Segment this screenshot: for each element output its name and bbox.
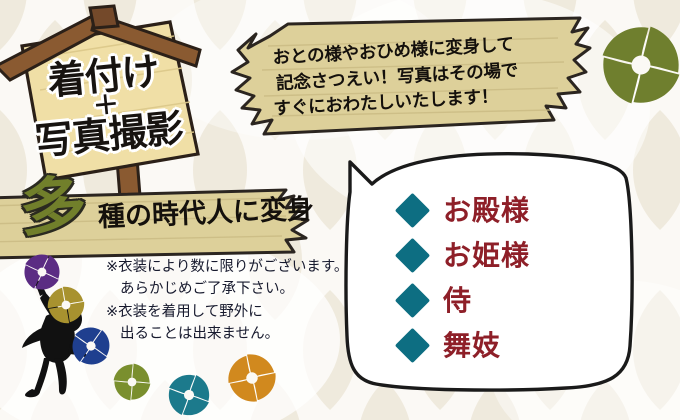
costume-list-callout: お殿様 お姫様 侍 舞妓: [338, 140, 638, 395]
note-line-3: ※衣装を着用して野外に: [106, 301, 366, 323]
poster-canvas: 着付け ＋ 写真撮影 おとの様やおひめ様に変身して 記念さつえい！写: [0, 0, 680, 420]
diamond-bullet-icon: [395, 238, 430, 273]
notes-block: ※衣装により数に限りがございます。 あらかじめご了承下さい。 ※衣装を着用して野…: [106, 256, 366, 346]
list-item-label: お殿様: [443, 197, 530, 225]
list-item-label: 舞妓: [443, 332, 501, 360]
note-line-1: ※衣装により数に限りがございます。: [106, 256, 366, 278]
banner-mid-kanji: 多: [17, 174, 88, 241]
list-item[interactable]: お姫様: [400, 233, 630, 278]
shuriken-green-large-icon: [598, 22, 680, 108]
shuriken-teal-icon: [166, 372, 212, 418]
sign-text-block: 着付け ＋ 写真撮影: [21, 39, 192, 172]
banner-top: おとの様やおひめ様に変身して 記念さつえい！写真はその場で すぐにおわたしいたし…: [228, 16, 596, 138]
signboard: 着付け ＋ 写真撮影: [0, 4, 238, 194]
note-line-4: 出ることは出来ません。: [106, 323, 366, 345]
shuriken-olive-icon: [112, 362, 152, 402]
banner-mid: 多 種の時代人に変身: [0, 186, 366, 262]
diamond-bullet-icon: [395, 328, 430, 363]
roof-ridge: [90, 6, 118, 28]
banner-mid-text: 種の時代人に変身: [98, 196, 315, 231]
shuriken-blue-icon: [70, 325, 112, 367]
list-item[interactable]: 舞妓: [400, 323, 630, 368]
shuriken-gold-icon: [46, 285, 86, 325]
list-item-label: お姫様: [443, 242, 530, 270]
list-item[interactable]: お殿様: [400, 188, 630, 233]
list-item[interactable]: 侍: [400, 278, 630, 323]
note-line-2: あらかじめご了承下さい。: [106, 278, 366, 300]
shuriken-orange-icon: [226, 352, 278, 404]
list-item-label: 侍: [443, 287, 472, 315]
diamond-bullet-icon: [395, 283, 430, 318]
sign-line-3: 写真撮影: [33, 108, 184, 160]
costume-list: お殿様 お姫様 侍 舞妓: [400, 188, 630, 368]
diamond-bullet-icon: [395, 193, 430, 228]
